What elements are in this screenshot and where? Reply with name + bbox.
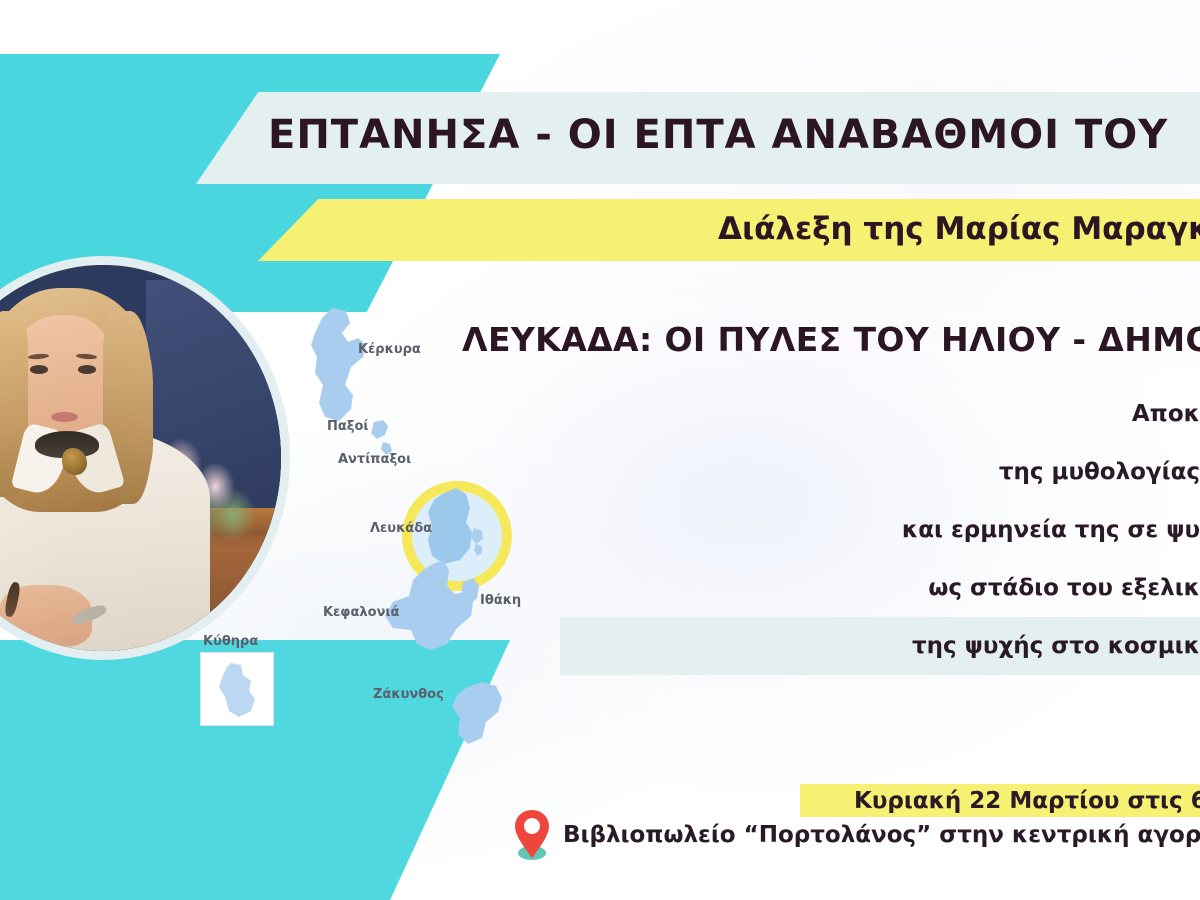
body-line: ως στάδιο του εξελικ bbox=[560, 559, 1200, 617]
map-label-kerkyra: Κέρκυρα bbox=[358, 342, 421, 357]
body-line: Αποκ bbox=[560, 385, 1200, 443]
map-label-ithaki: Ιθάκη bbox=[480, 593, 521, 608]
island-zakynthos bbox=[452, 682, 502, 744]
kythira-inset-box bbox=[200, 652, 274, 726]
event-date: Κυριακή 22 Μαρτίου στις 6 bbox=[854, 788, 1200, 814]
location-pin-icon bbox=[508, 806, 556, 862]
island-kerkyra bbox=[311, 308, 366, 421]
photo-lips bbox=[51, 412, 78, 422]
pin-hole bbox=[524, 818, 540, 834]
body-line-text: ως στάδιο του εξελικ bbox=[928, 575, 1200, 601]
body-line-text: της ψυχής στο κοσμικ bbox=[912, 633, 1200, 659]
body-line-text: της μυθολογίας bbox=[999, 459, 1200, 485]
poster-body: Αποκ της μυθολογίας και ερμηνεία της σε … bbox=[560, 385, 1200, 675]
map-label-kefalonia: Κεφαλονιά bbox=[323, 605, 399, 620]
body-line-text: και ερμηνεία της σε ψυ bbox=[902, 517, 1200, 543]
island-kythira bbox=[219, 663, 255, 717]
map-label-zakynthos: Ζάκυνθος bbox=[373, 687, 444, 702]
body-line-text: Αποκ bbox=[1132, 401, 1200, 427]
event-venue: Βιβλιοπωλείο “Πορτολάνος” στην κεντρική … bbox=[563, 822, 1200, 848]
body-line-highlighted: της ψυχής στο κοσμικ bbox=[560, 617, 1200, 675]
map-label-lefkada: Λευκάδα bbox=[370, 521, 432, 536]
map-label-kythira: Κύθηρα bbox=[203, 634, 258, 649]
poster-title: ΕΠΤΑΝΗΣΑ - ΟΙ ΕΠΤΑ ΑΝΑΒΑΘΜΟΙ ΤΟΥ bbox=[268, 112, 1200, 158]
island-paxoi bbox=[371, 420, 388, 439]
poster-canvas: ΕΠΤΑΝΗΣΑ - ΟΙ ΕΠΤΑ ΑΝΑΒΑΘΜΟΙ ΤΟΥ Διάλεξη… bbox=[0, 0, 1200, 900]
map-label-paxoi: Παξοί bbox=[327, 419, 369, 434]
poster-subtitle: Διάλεξη της Μαρίας Μαραγκο bbox=[718, 211, 1200, 247]
body-line: και ερμηνεία της σε ψυ bbox=[560, 501, 1200, 559]
body-line: της μυθολογίας bbox=[560, 443, 1200, 501]
photo-pendant bbox=[62, 448, 87, 475]
map-label-antipaxoi: Αντίπαξοι bbox=[338, 452, 411, 467]
